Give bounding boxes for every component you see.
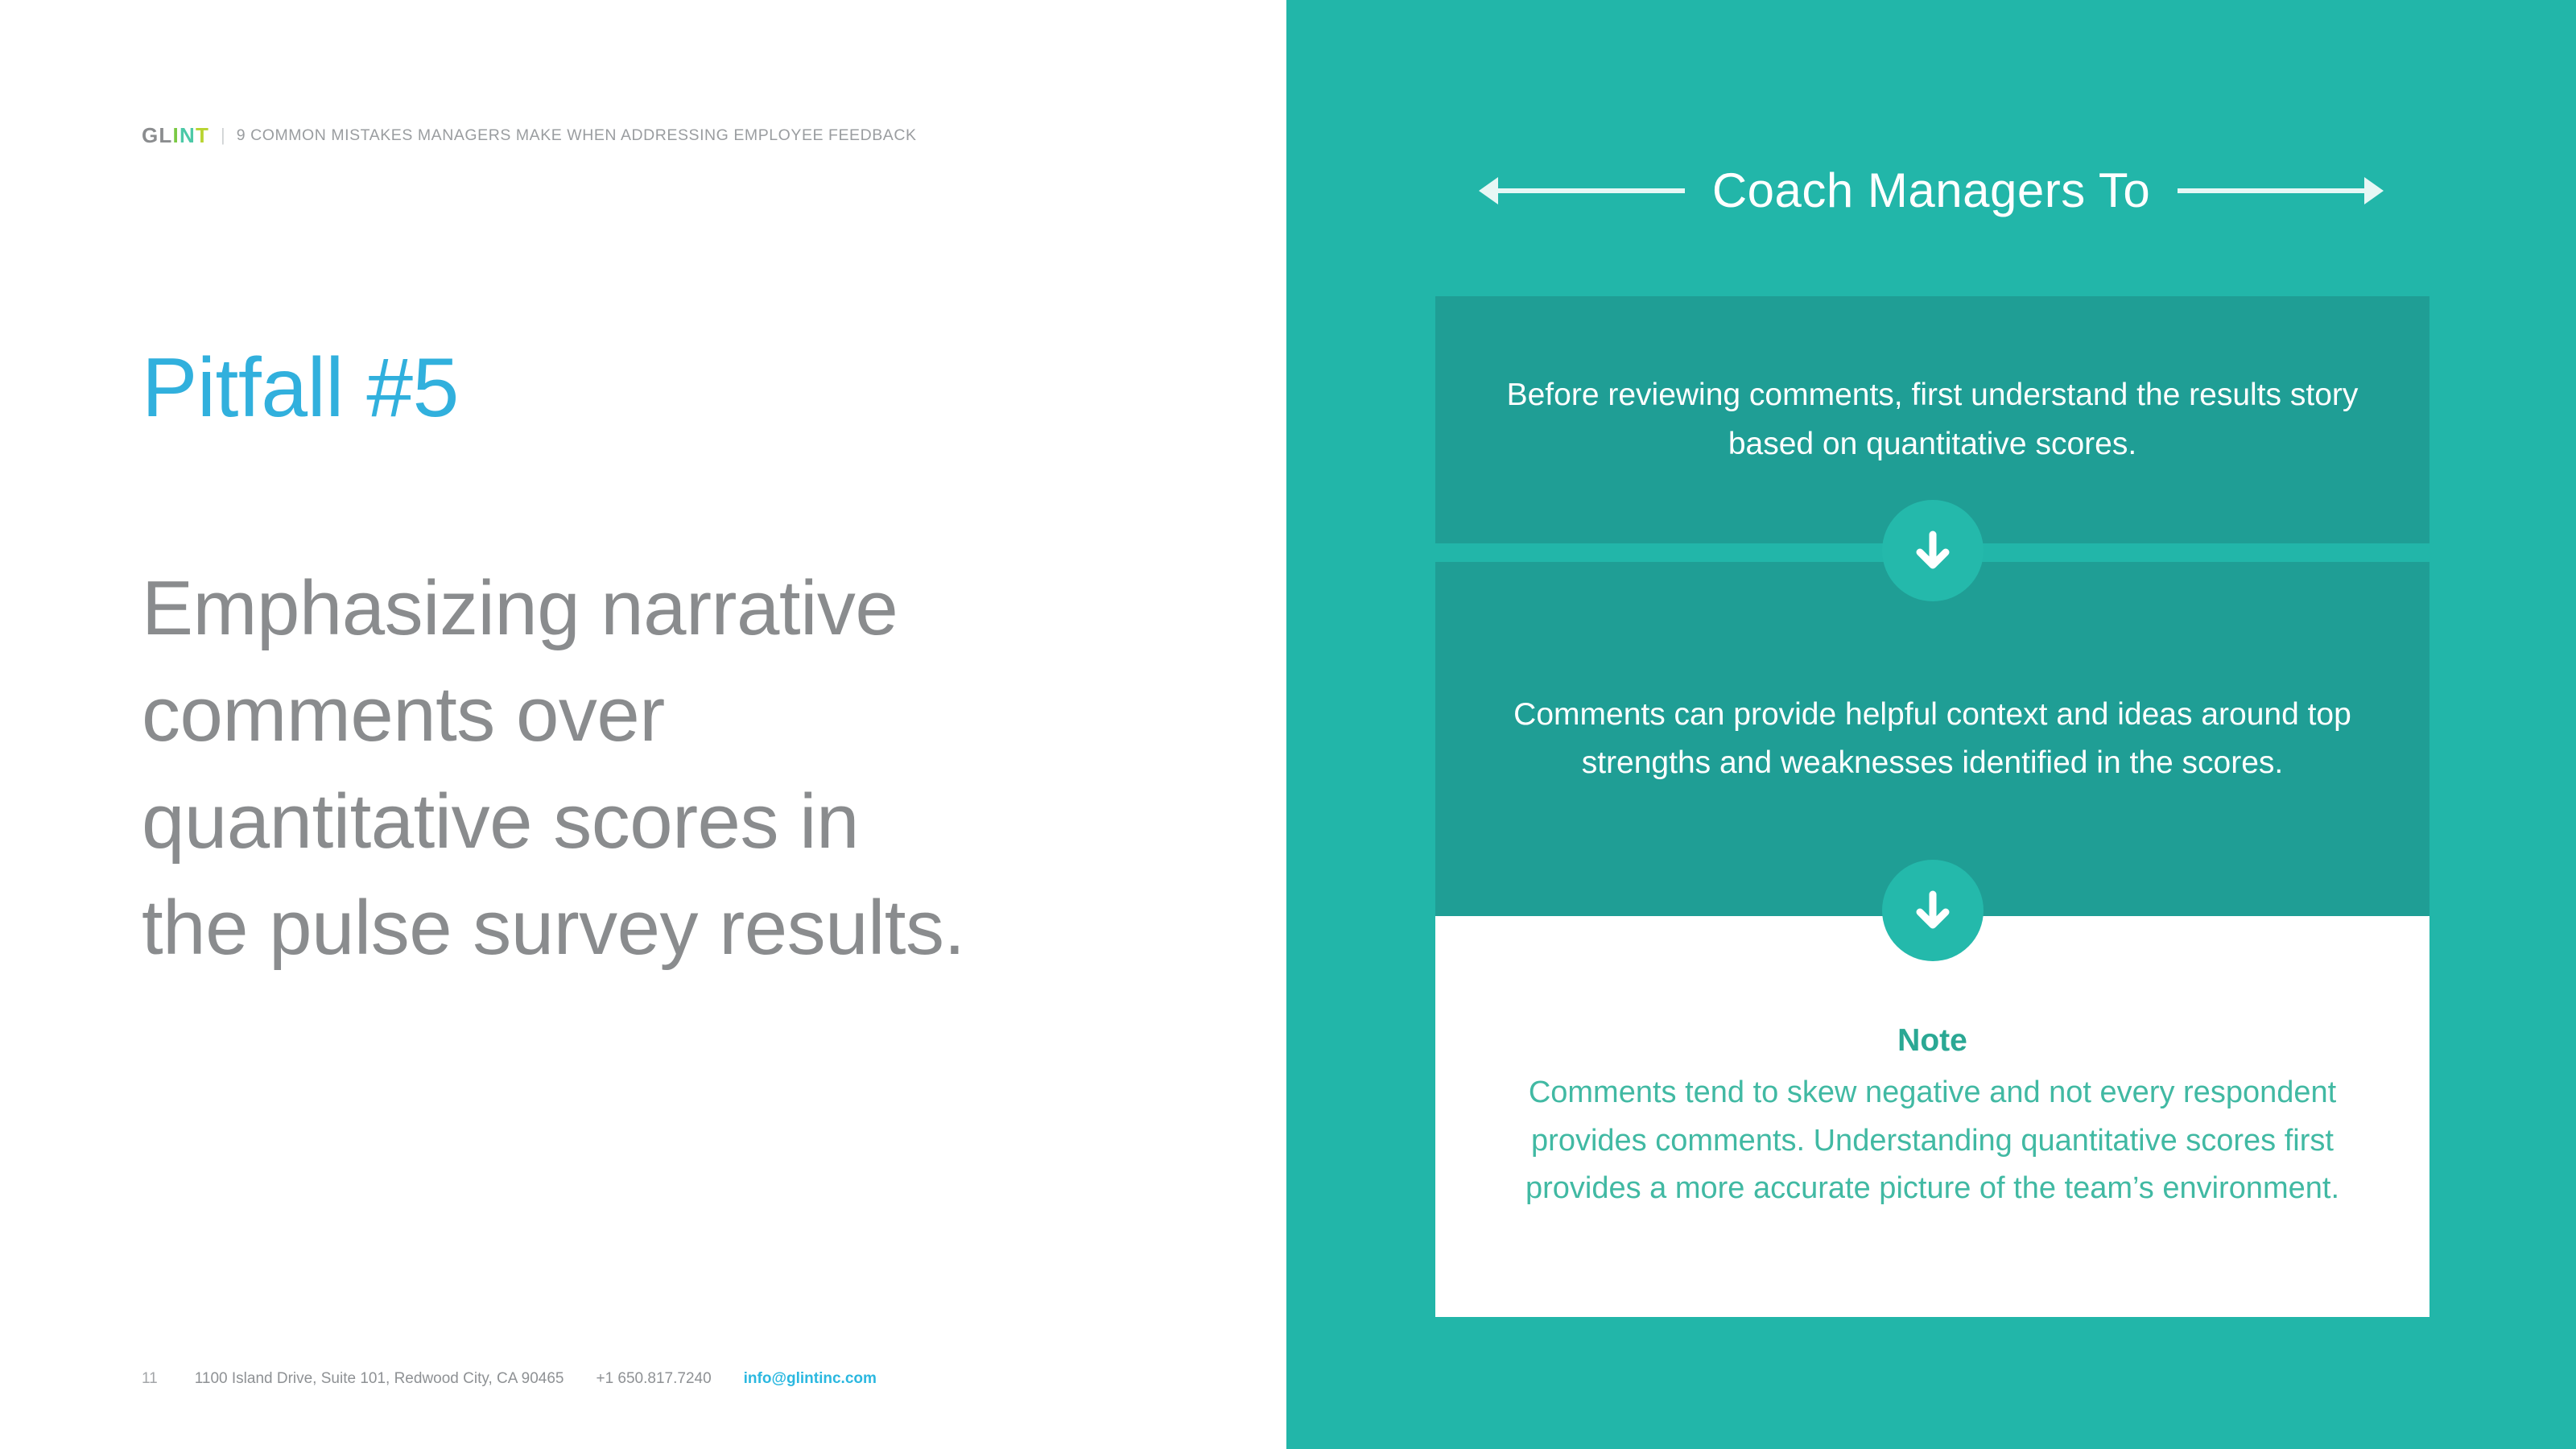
note-body: Comments tend to skew negative and not e…	[1495, 1069, 2370, 1212]
note-title: Note	[1897, 1021, 1967, 1062]
flow-note-box: Note Comments tend to skew negative and …	[1435, 916, 2429, 1317]
flow-step-1-text: Before reviewing comments, first underst…	[1490, 371, 2375, 469]
glint-logo: GLINT	[142, 125, 209, 146]
footer-address: 1100 Island Drive, Suite 101, Redwood Ci…	[195, 1370, 564, 1388]
footer-email-link[interactable]: info@glintinc.com	[744, 1370, 877, 1388]
header-separator: |	[221, 125, 225, 146]
panel-title: Coach Managers To	[1712, 167, 2150, 215]
arrow-down-icon	[1882, 860, 1984, 961]
flow-diagram: Before reviewing comments, first underst…	[1435, 296, 2429, 1317]
slide-canvas: GLINT | 9 COMMON MISTAKES MANAGERS MAKE …	[0, 0, 2576, 1449]
arrow-down-icon	[1882, 500, 1984, 601]
document-header: GLINT | 9 COMMON MISTAKES MANAGERS MAKE …	[142, 125, 917, 146]
logo-part-t: T	[196, 123, 209, 147]
logo-part-i: I	[173, 123, 180, 147]
arrow-left-icon	[1495, 188, 1685, 193]
arrow-right-icon	[2178, 188, 2368, 193]
page-number: 11	[142, 1370, 158, 1388]
page-eyebrow-title: Pitfall #5	[142, 346, 459, 430]
page-headline: Emphasizing narrative comments over quan…	[142, 555, 1220, 982]
headline-line-2: comments over	[142, 662, 1220, 768]
footer-phone: +1 650.817.7240	[596, 1370, 711, 1388]
headline-line-1: Emphasizing narrative	[142, 555, 1220, 662]
logo-part-gl: GL	[142, 123, 173, 147]
logo-part-n: N	[180, 123, 196, 147]
headline-line-4: the pulse survey results.	[142, 875, 1220, 981]
header-title: 9 COMMON MISTAKES MANAGERS MAKE WHEN ADD…	[237, 126, 917, 145]
right-teal-panel: Coach Managers To Before reviewing comme…	[1286, 0, 2576, 1449]
document-footer: 11 1100 Island Drive, Suite 101, Redwood…	[142, 1370, 877, 1388]
headline-line-3: quantitative scores in	[142, 769, 1220, 875]
left-content-pane: GLINT | 9 COMMON MISTAKES MANAGERS MAKE …	[0, 0, 1286, 1449]
flow-step-2-text: Comments can provide helpful context and…	[1490, 691, 2375, 788]
panel-header: Coach Managers To	[1286, 159, 2576, 222]
